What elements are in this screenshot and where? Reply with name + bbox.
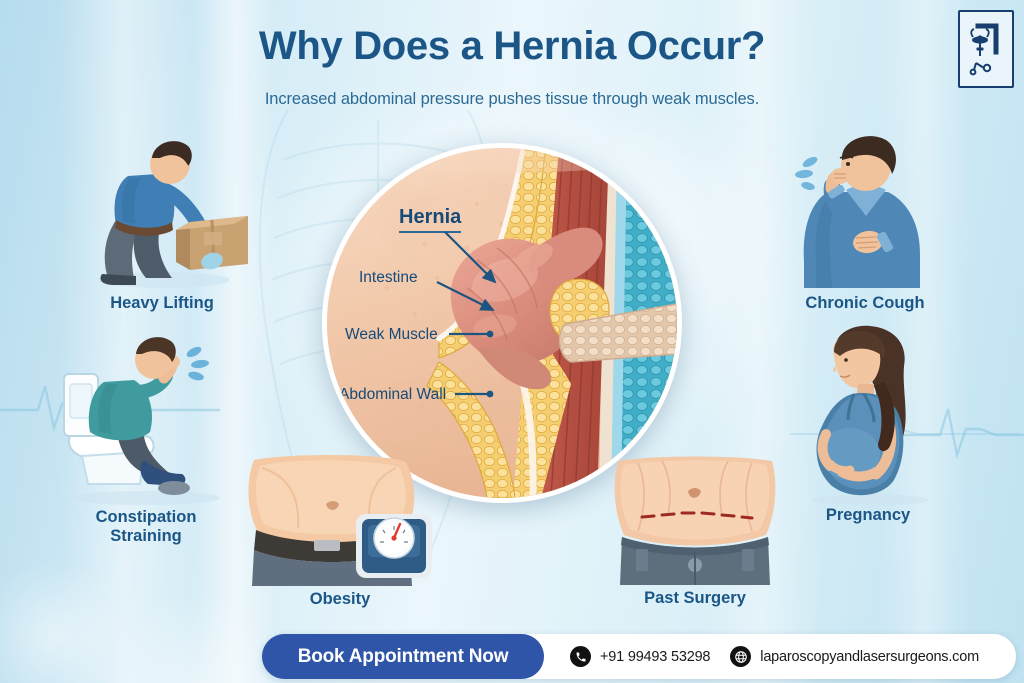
label-chronic-cough: Chronic Cough <box>770 294 960 313</box>
label-constipation-line2: Straining <box>110 527 182 545</box>
website-url: laparoscopyandlasersurgeons.com <box>760 649 979 665</box>
contact-phone[interactable]: +91 99493 53298 <box>544 646 710 667</box>
clinic-logo[interactable] <box>958 10 1014 88</box>
page-title: Why Does a Hernia Occur? <box>0 24 1024 69</box>
hernia-cross-section-diagram: Hernia Intestine Weak Muscle Abdominal W… <box>322 143 682 503</box>
cause-obesity: Obesity <box>240 452 440 612</box>
caduceus-icon <box>966 18 1006 80</box>
label-constipation-line1: Constipation <box>96 508 197 526</box>
background-bubble-1 <box>0 560 130 683</box>
callout-hernia: Hernia <box>399 206 461 233</box>
hernia-anatomy-illustration <box>327 148 677 498</box>
cause-past-surgery: Past Surgery <box>600 455 790 615</box>
label-heavy-lifting: Heavy Lifting <box>72 294 252 313</box>
past-surgery-illustration <box>600 455 790 585</box>
page-subtitle: Increased abdominal pressure pushes tiss… <box>0 90 1024 109</box>
label-past-surgery: Past Surgery <box>600 589 790 608</box>
callout-intestine: Intestine <box>359 269 418 287</box>
cause-constipation-straining: Constipation Straining <box>48 326 244 546</box>
pregnancy-illustration <box>778 322 958 506</box>
label-obesity: Obesity <box>240 590 440 609</box>
infographic-poster: Why Does a Hernia Occur? Increased abdom… <box>0 0 1024 683</box>
phone-icon <box>570 646 591 667</box>
globe-icon <box>730 646 751 667</box>
label-pregnancy: Pregnancy <box>778 506 958 525</box>
callout-weak-muscle: Weak Muscle <box>345 326 438 344</box>
obesity-illustration <box>240 452 440 586</box>
cause-heavy-lifting: Heavy Lifting <box>72 128 252 318</box>
constipation-straining-illustration <box>48 326 244 506</box>
cause-pregnancy: Pregnancy <box>778 322 958 542</box>
cause-chronic-cough: Chronic Cough <box>770 130 960 320</box>
book-appointment-button[interactable]: Book Appointment Now <box>262 634 544 679</box>
callout-abdominal-wall: Abdominal Wall <box>339 386 446 404</box>
chronic-cough-illustration <box>770 130 960 290</box>
label-constipation-straining: Constipation Straining <box>48 508 244 546</box>
heavy-lifting-illustration <box>72 128 252 290</box>
phone-number: +91 99493 53298 <box>600 649 710 665</box>
cta-bar: Book Appointment Now +91 99493 53298 lap… <box>262 634 1016 679</box>
contact-website[interactable]: laparoscopyandlasersurgeons.com <box>730 646 979 667</box>
